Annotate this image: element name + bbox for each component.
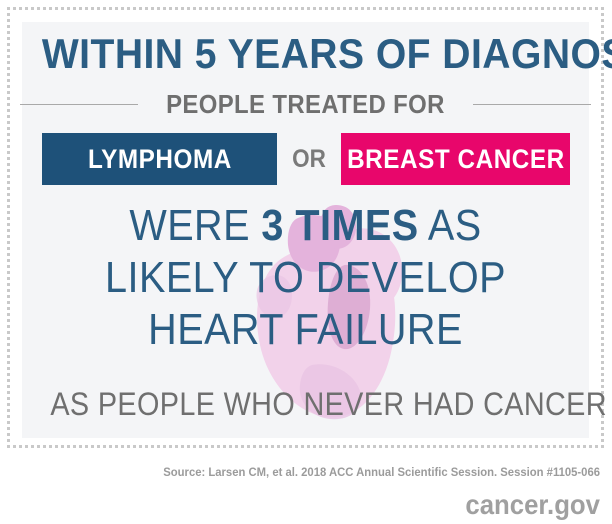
- subtitle-row: PEOPLE TREATED FOR: [22, 88, 589, 120]
- statement-line-1-suffix: AS: [419, 201, 482, 250]
- condition-chip-lymphoma-label: LYMPHOMA: [88, 144, 232, 175]
- rule-left-divider: [20, 104, 138, 105]
- statement-line-1-prefix: WERE: [129, 201, 261, 250]
- condition-chips-row: LYMPHOMA OR BREAST CANCER: [22, 133, 589, 185]
- statement-line-3: HEART FAILURE: [50, 304, 560, 356]
- infographic-canvas: WITHIN 5 YEARS OF DIAGNOSIS PEOPLE TREAT…: [0, 0, 612, 524]
- statement-line-2: LIKELY TO DEVELOP: [50, 252, 560, 304]
- main-statement: WERE 3 TIMES AS LIKELY TO DEVELOP HEART …: [22, 200, 589, 356]
- condition-chip-breast-cancer-label: BREAST CANCER: [347, 144, 565, 175]
- headline-title: WITHIN 5 YEARS OF DIAGNOSIS: [42, 30, 569, 78]
- brand-logo-cancer-gov: cancer.gov: [48, 489, 600, 521]
- statement-line-1: WERE 3 TIMES AS: [50, 200, 560, 252]
- condition-chip-breast-cancer: BREAST CANCER: [341, 133, 570, 185]
- subtitle-text: PEOPLE TREATED FOR: [166, 89, 445, 119]
- condition-chip-lymphoma: LYMPHOMA: [42, 133, 277, 185]
- rule-right-divider: [473, 104, 591, 105]
- conjunction-or: OR: [280, 133, 338, 185]
- closing-comparison-text: AS PEOPLE WHO NEVER HAD CANCER: [50, 385, 560, 423]
- statement-emphasis-multiplier: 3 TIMES: [261, 201, 418, 250]
- source-citation: Source: Larsen CM, et al. 2018 ACC Annua…: [36, 464, 600, 480]
